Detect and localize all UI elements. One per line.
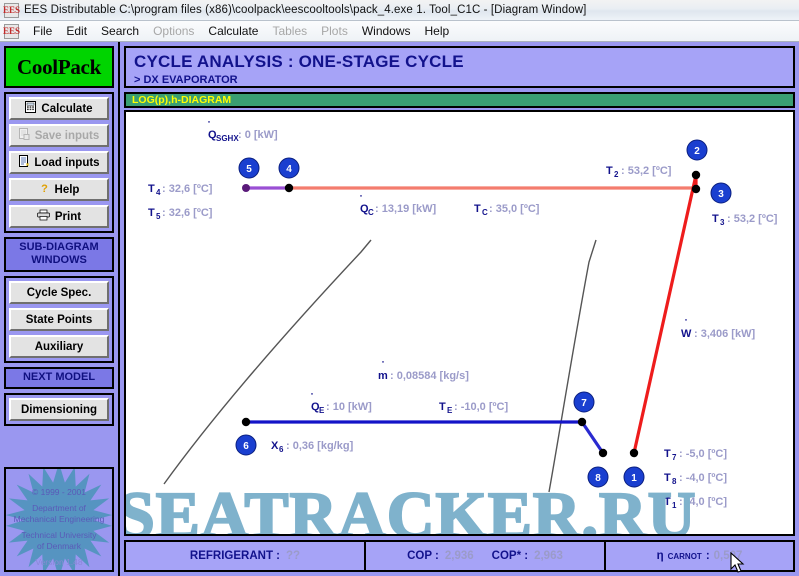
app-frame: CoolPack Calculate Save inputs	[0, 42, 799, 576]
t4-sub: 4	[156, 188, 161, 197]
badge-label-5: 5	[246, 164, 252, 175]
subdiagram-header-line2: WINDOWS	[6, 254, 112, 267]
svg-text:˙: ˙	[359, 193, 363, 207]
badge-label-3: 3	[718, 189, 724, 200]
menu-help[interactable]: Help	[418, 23, 457, 39]
sidebar-actions-group: Calculate Save inputs Load inputs	[4, 92, 114, 233]
svg-text:˙: ˙	[207, 119, 211, 133]
save-inputs-button: Save inputs	[9, 124, 109, 147]
calculate-button-label: Calculate	[41, 103, 92, 115]
label-qe: Q ˙ E : 10 [kW]	[310, 391, 372, 415]
credit-line1: Department of	[6, 503, 112, 515]
point-marker-8	[599, 449, 607, 457]
label-q-sghx: Q ˙ SGHX : 0 [kW]	[207, 119, 278, 143]
diagram-title-bar: LOG(p),h-DIAGRAM	[124, 92, 795, 108]
label-w: W ˙ : 3,406 [kW]	[681, 317, 755, 340]
document-icon	[18, 155, 29, 170]
te-value: : -10,0 [ºC]	[454, 401, 508, 413]
t7-sub: 7	[672, 453, 677, 462]
t4-name: T	[148, 183, 155, 195]
sidebar-credit-panel: © 1999 - 2001 Department of Mechanical E…	[4, 467, 114, 572]
cop-star-value: 2,963	[534, 550, 563, 562]
menu-calculate[interactable]: Calculate	[201, 23, 265, 39]
next-model-header: NEXT MODEL	[4, 367, 114, 389]
main-area: CYCLE ANALYSIS : ONE-STAGE CYCLE > DX EV…	[120, 42, 799, 576]
menu-windows[interactable]: Windows	[355, 23, 418, 39]
point-marker-2	[692, 171, 700, 179]
credit-line2: Mechanical Engineering	[6, 514, 112, 526]
calculate-button[interactable]: Calculate	[9, 97, 109, 120]
eta-value: 0,507	[714, 550, 743, 562]
eta-sub: CARNOT	[668, 552, 702, 561]
x6-value: : 0,36 [kg/kg]	[286, 440, 354, 452]
title-bar: EES EES Distributable C:\program files (…	[0, 0, 799, 21]
te-sub: E	[447, 406, 453, 415]
subdiagram-buttons-group: Cycle Spec. State Points Auxiliary	[4, 276, 114, 363]
refrigerant-label: REFRIGERANT :	[190, 550, 280, 562]
app-window: EES EES Distributable C:\program files (…	[0, 0, 799, 576]
state-point-badge-7[interactable]: 7	[574, 392, 594, 412]
cycle-spec-button[interactable]: Cycle Spec.	[9, 281, 109, 304]
t5-value: : 32,6 [ºC]	[162, 207, 213, 219]
svg-text:?: ?	[41, 183, 48, 194]
badge-label-4: 4	[286, 164, 292, 175]
label-x6: X 6 : 0,36 [kg/kg]	[271, 440, 354, 454]
cop-value: 2,936	[445, 550, 474, 562]
label-t5: T 5 : 32,6 [ºC]	[148, 207, 213, 221]
label-t2: T 2 : 53,2 [ºC]	[606, 165, 672, 179]
help-button-label: Help	[55, 184, 80, 196]
qe-sub: E	[319, 406, 325, 415]
subdiagram-header-line1: SUB-DIAGRAM	[6, 241, 112, 254]
qc-value: : 13,19 [kW]	[375, 203, 436, 215]
point-marker-6	[242, 418, 250, 426]
credit-version: Version 1.48	[6, 557, 112, 569]
next-model-buttons-group: Dimensioning	[4, 393, 114, 426]
refrigerant-value: ??	[286, 550, 300, 562]
point-marker-4	[285, 184, 293, 192]
save-icon	[19, 128, 30, 143]
auxiliary-button[interactable]: Auxiliary	[9, 335, 109, 358]
t4-value: : 32,6 [ºC]	[162, 183, 213, 195]
compression-line	[634, 175, 696, 453]
saturation-curve-right	[549, 240, 596, 492]
log-ph-diagram-svg: 5 4 2 3 6	[126, 112, 793, 534]
state-point-badge-5[interactable]: 5	[239, 158, 259, 178]
menu-bar: EES File Edit Search Options Calculate T…	[0, 21, 799, 42]
label-t4: T 4 : 32,6 [ºC]	[148, 183, 213, 197]
window-title: EES Distributable C:\program files (x86)…	[24, 4, 586, 16]
t7-value: : -5,0 [ºC]	[679, 448, 727, 460]
badge-label-6: 6	[243, 441, 249, 452]
tc-name: T	[474, 203, 481, 215]
tc-value: : 35,0 [ºC]	[489, 203, 540, 215]
print-button[interactable]: Print	[9, 205, 109, 228]
t3-name: T	[712, 213, 719, 225]
superheat-line	[582, 422, 603, 453]
tc-sub: C	[482, 208, 488, 217]
point-marker-7	[578, 418, 586, 426]
state-point-badge-3[interactable]: 3	[711, 183, 731, 203]
label-te: T E : -10,0 [ºC]	[439, 401, 508, 415]
t3-sub: 3	[720, 218, 725, 227]
t3-value: : 53,2 [ºC]	[727, 213, 778, 225]
point-marker-1	[630, 449, 638, 457]
credit-line3: Technical University	[6, 530, 112, 542]
load-inputs-button[interactable]: Load inputs	[9, 151, 109, 174]
mdot-value: : 0,08584 [kg/s]	[390, 370, 469, 382]
sidebar: CoolPack Calculate Save inputs	[0, 42, 120, 576]
qe-value: : 10 [kW]	[326, 401, 372, 413]
menu-options: Options	[146, 23, 201, 39]
page-header: CYCLE ANALYSIS : ONE-STAGE CYCLE > DX EV…	[124, 46, 795, 88]
eta-label: η	[657, 550, 664, 562]
x6-sub: 6	[279, 445, 284, 454]
svg-text:˙: ˙	[381, 359, 385, 373]
qc-sub: C	[368, 208, 374, 217]
label-mdot: m ˙ : 0,08584 [kg/s]	[378, 359, 469, 382]
te-name: T	[439, 401, 446, 413]
printer-icon	[37, 209, 50, 224]
status-refrigerant: REFRIGERANT : ??	[126, 542, 366, 570]
menu-edit[interactable]: Edit	[59, 23, 94, 39]
eta-colon: :	[706, 550, 710, 562]
state-points-button[interactable]: State Points	[9, 308, 109, 331]
menu-plots: Plots	[314, 23, 355, 39]
svg-text:˙: ˙	[684, 317, 688, 331]
subdiagram-windows-header: SUB-DIAGRAM WINDOWS	[4, 237, 114, 272]
x6-name: X	[271, 440, 279, 452]
ees-icon: EES	[4, 3, 19, 18]
watermark: SEATRACKER.RU SEATRACKER.RU	[126, 479, 696, 534]
watermark-fill: SEATRACKER.RU	[126, 479, 696, 534]
w-value: : 3,406 [kW]	[694, 328, 755, 340]
t5-sub: 5	[156, 212, 161, 221]
page-title: CYCLE ANALYSIS : ONE-STAGE CYCLE	[134, 52, 793, 72]
status-eta-carnot: η CARNOT : 0,507	[606, 542, 793, 570]
label-t7: T 7 : -5,0 [ºC]	[664, 448, 727, 462]
state-point-badge-2[interactable]: 2	[687, 140, 707, 160]
t2-value: : 53,2 [ºC]	[621, 165, 672, 177]
state-point-badge-4[interactable]: 4	[279, 158, 299, 178]
state-point-badge-6[interactable]: 6	[236, 435, 256, 455]
diagram-canvas[interactable]: 5 4 2 3 6	[124, 110, 795, 536]
help-button[interactable]: ? Help	[9, 178, 109, 201]
status-cop: COP : 2,936 COP* : 2,963	[366, 542, 606, 570]
badge-label-7: 7	[581, 398, 587, 409]
menu-file[interactable]: File	[26, 23, 59, 39]
point-marker-3	[692, 185, 700, 193]
label-t3: T 3 : 53,2 [ºC]	[712, 213, 778, 227]
ees-menu-icon[interactable]: EES	[4, 24, 19, 39]
coolpack-logo: CoolPack	[4, 46, 114, 88]
menu-search[interactable]: Search	[94, 23, 146, 39]
q-sghx-sub: SGHX	[216, 134, 239, 143]
menu-tables: Tables	[265, 23, 314, 39]
cop-star-label: COP* :	[492, 550, 528, 562]
t2-sub: 2	[614, 170, 619, 179]
print-button-label: Print	[55, 211, 81, 223]
q-sghx-value: : 0 [kW]	[238, 129, 278, 141]
question-icon: ?	[39, 182, 50, 197]
t2-name: T	[606, 165, 613, 177]
calculator-icon	[25, 101, 36, 116]
credit-copyright: © 1999 - 2001	[6, 487, 112, 499]
cop-label: COP :	[407, 550, 439, 562]
label-tc: T C : 35,0 [ºC]	[474, 203, 540, 217]
t5-name: T	[148, 207, 155, 219]
t7-name: T	[664, 448, 671, 460]
svg-text:˙: ˙	[310, 391, 314, 405]
page-subtitle: > DX EVAPORATOR	[134, 74, 793, 86]
dimensioning-button[interactable]: Dimensioning	[9, 398, 109, 421]
credit-line4: of Denmark	[6, 541, 112, 553]
point-marker-5	[242, 184, 250, 192]
load-inputs-button-label: Load inputs	[34, 157, 99, 169]
badge-label-2: 2	[694, 146, 700, 157]
label-qc: Q ˙ C : 13,19 [kW]	[359, 193, 436, 217]
credit-text: © 1999 - 2001 Department of Mechanical E…	[6, 487, 112, 572]
status-bar: REFRIGERANT : ?? COP : 2,936 COP* : 2,96…	[124, 540, 795, 572]
save-inputs-button-label: Save inputs	[35, 130, 100, 142]
